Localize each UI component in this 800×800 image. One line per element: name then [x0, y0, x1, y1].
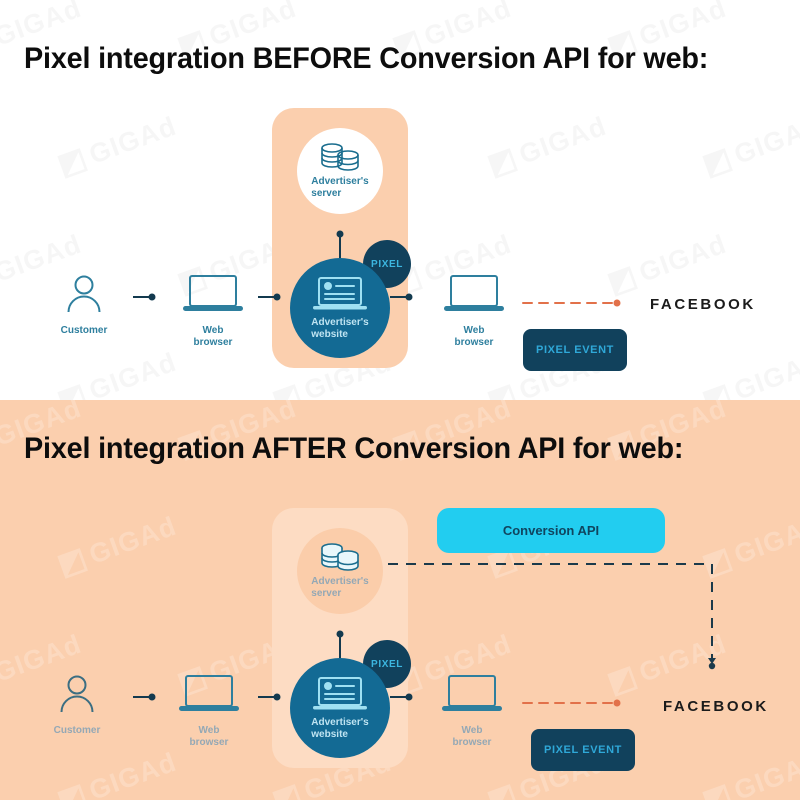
laptop-icon — [441, 672, 503, 716]
node-advertiser-website: Advertiser's website — [290, 258, 390, 358]
node-advertiser-server: Advertiser's server — [297, 128, 383, 214]
node-label: Web browser — [181, 325, 245, 349]
node-customer: Customer — [58, 272, 110, 337]
dashed-arrow-to-facebook — [523, 300, 621, 307]
dashed-arrow-to-facebook — [523, 700, 621, 707]
panel-after: ◩GIGAd◩GIGAd◩GIGAd◩GIGAd◩GIGAd◩GIGAd◩GIG… — [0, 400, 800, 800]
person-icon — [62, 272, 106, 316]
node-label: Web browser — [440, 725, 504, 749]
diagram-before: Customer Web browser — [0, 0, 800, 400]
arrow-customer-to-browser — [133, 694, 156, 701]
database-icon — [319, 542, 361, 574]
node-label: Advertiser's server — [311, 576, 368, 600]
node-web-browser-right: Web browser — [440, 672, 504, 749]
pixel-event-badge: PIXEL EVENT — [531, 729, 635, 771]
node-label: Customer — [51, 725, 103, 737]
website-laptop-icon — [312, 676, 368, 714]
facebook-wordmark: FACEBOOK — [663, 698, 769, 715]
node-label: Customer — [58, 325, 110, 337]
website-laptop-icon — [312, 276, 368, 314]
diagram-after: Conversion API Customer Web browser — [0, 400, 800, 800]
node-label: Advertiser's website — [311, 317, 368, 341]
arrow-customer-to-browser — [133, 294, 156, 301]
node-label: Advertiser's website — [311, 717, 368, 741]
node-web-browser-right: Web browser — [442, 272, 506, 349]
laptop-icon — [182, 272, 244, 316]
node-label: Web browser — [177, 725, 241, 749]
person-icon — [55, 672, 99, 716]
dashed-arrow-server-to-facebook — [388, 564, 716, 669]
node-customer: Customer — [51, 672, 103, 737]
node-label: Web browser — [442, 325, 506, 349]
node-advertiser-website: Advertiser's website — [290, 658, 390, 758]
laptop-icon — [178, 672, 240, 716]
node-web-browser-left: Web browser — [181, 272, 245, 349]
node-web-browser-left: Web browser — [177, 672, 241, 749]
pixel-event-badge: PIXEL EVENT — [523, 329, 627, 371]
diagram-page: ◩GIGAd◩GIGAd◩GIGAd◩GIGAd◩GIGAd◩GIGAd◩GIG… — [0, 0, 800, 800]
panel-before: ◩GIGAd◩GIGAd◩GIGAd◩GIGAd◩GIGAd◩GIGAd◩GIG… — [0, 0, 800, 400]
facebook-wordmark: FACEBOOK — [650, 296, 756, 313]
node-label: Advertiser's server — [311, 176, 368, 200]
conversion-api-box: Conversion API — [437, 508, 665, 553]
database-icon — [319, 142, 361, 174]
node-advertiser-server: Advertiser's server — [297, 528, 383, 614]
laptop-icon — [443, 272, 505, 316]
